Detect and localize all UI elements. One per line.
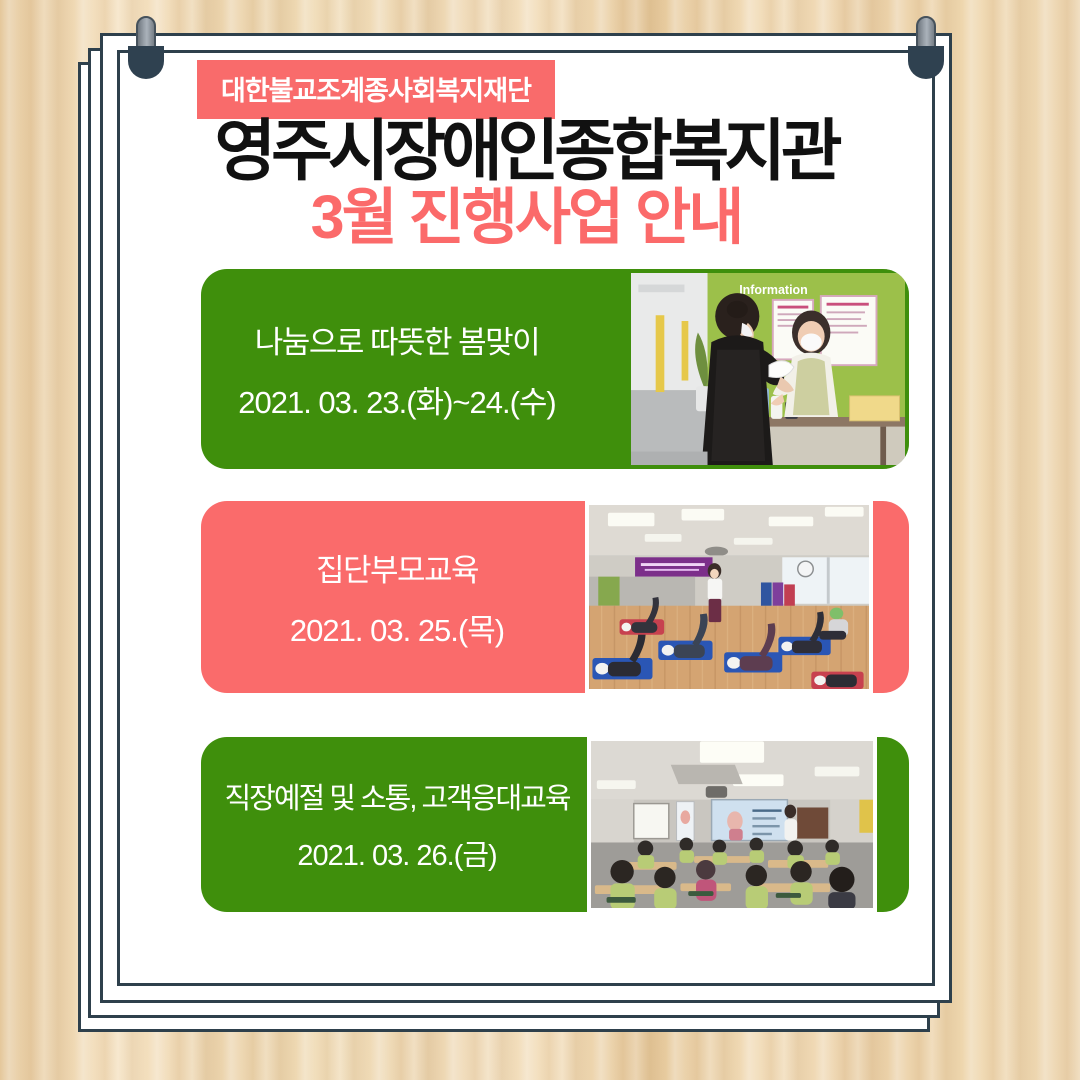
program-photo: [585, 501, 873, 693]
program-photo: Information: [627, 269, 909, 469]
program-date: 2021. 03. 23.(화)~24.(수): [238, 377, 556, 422]
program-title: 집단부모교육: [316, 545, 478, 590]
poster-content: 대한불교조계종사회복지재단 영주시장애인종합복지관 3월 진행사업 안내 나눔으…: [100, 33, 952, 1003]
program-title: 직장예절 및 소통, 고객응대교육: [224, 775, 569, 817]
program-title: 나눔으로 따뜻한 봄맞이: [255, 317, 539, 362]
organization-badge: 대한불교조계종사회복지재단: [197, 60, 555, 119]
svg-text:Information: Information: [739, 283, 808, 297]
poster-canvas: 대한불교조계종사회복지재단 영주시장애인종합복지관 3월 진행사업 안내 나눔으…: [0, 0, 1080, 1080]
program-photo: [587, 737, 877, 912]
program-card: 직장예절 및 소통, 고객응대교육 2021. 03. 26.(금): [201, 737, 909, 912]
program-card-text: 직장예절 및 소통, 고객응대교육 2021. 03. 26.(금): [201, 737, 593, 912]
program-date: 2021. 03. 26.(금): [297, 832, 496, 874]
poster-title-main: 영주시장애인종합복지관: [100, 117, 952, 187]
poster-title-sub: 3월 진행사업 안내: [100, 185, 952, 249]
program-date: 2021. 03. 25.(목): [290, 605, 504, 650]
program-card: 집단부모교육 2021. 03. 25.(목): [201, 501, 909, 693]
program-card: 나눔으로 따뜻한 봄맞이 2021. 03. 23.(화)~24.(수) Inf…: [201, 269, 909, 469]
program-card-text: 집단부모교육 2021. 03. 25.(목): [201, 501, 593, 693]
program-card-text: 나눔으로 따뜻한 봄맞이 2021. 03. 23.(화)~24.(수): [201, 269, 593, 469]
